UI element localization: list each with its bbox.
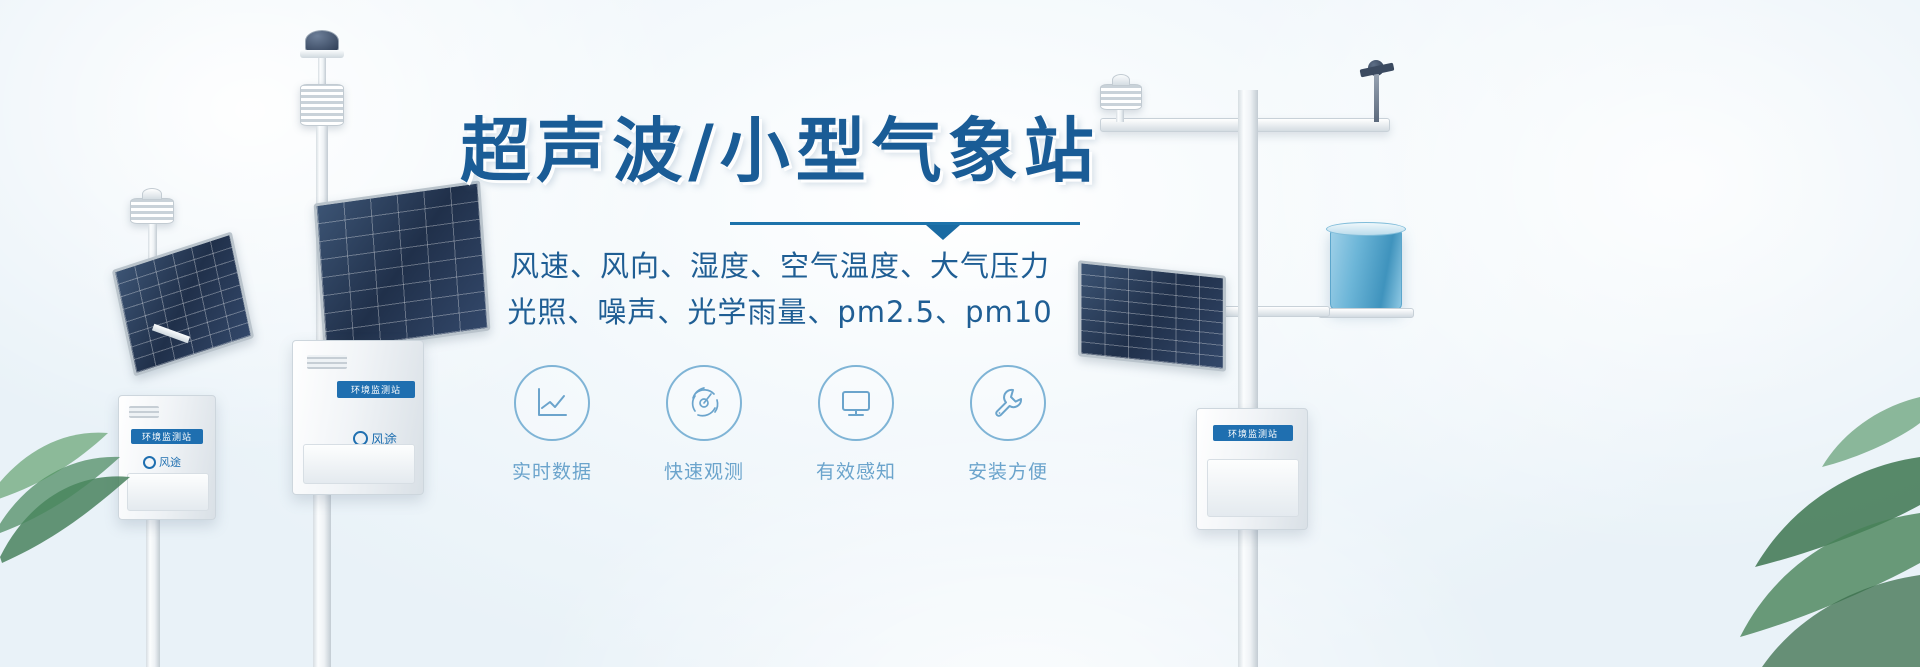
- feature-label: 实时数据: [497, 457, 607, 484]
- left-cabinet-brand: 风途: [143, 454, 181, 470]
- leaf-decoration-left: [0, 377, 140, 577]
- feature-label: 有效感知: [801, 457, 911, 484]
- left-sensor-dome: [142, 188, 162, 200]
- title-divider: [730, 219, 1080, 237]
- right-arm-radiation-shield: [1100, 84, 1142, 110]
- ultrasonic-sensor-base: [300, 50, 344, 58]
- feature-icon-ring: [666, 365, 742, 441]
- wind-vane-shaft: [1374, 74, 1379, 122]
- middle-cabinet-label: 环境监测站: [337, 381, 415, 398]
- subtitle-line-2: 光照、噪声、光学雨量、pm2.5、pm10: [430, 289, 1130, 335]
- feature-list: 实时数据 快速观测: [430, 365, 1130, 484]
- feature-icon-ring: [818, 365, 894, 441]
- left-solar-cells: [115, 235, 250, 372]
- middle-cabinet-vents: [307, 355, 347, 369]
- middle-cabinet-door: [303, 444, 415, 484]
- right-cabinet-label: 环境监测站: [1213, 425, 1293, 441]
- feature-fast-observation[interactable]: 快速观测: [649, 365, 759, 484]
- page-title: 超声波/小型气象站: [430, 110, 1130, 193]
- divider-rule: [730, 222, 1080, 225]
- middle-sensor-stem: [318, 58, 326, 84]
- right-arm-sensor-dome: [1112, 74, 1130, 86]
- right-main-mast: [1238, 90, 1258, 667]
- brand-mark-icon: [143, 456, 156, 469]
- rain-gauge-body: [1330, 228, 1402, 310]
- feature-easy-installation[interactable]: 安装方便: [953, 365, 1063, 484]
- left-solar-panel: [112, 231, 254, 376]
- feature-effective-sensing[interactable]: 有效感知: [801, 365, 911, 484]
- rain-gauge-shelf: [1318, 308, 1414, 318]
- feature-label: 安装方便: [953, 457, 1063, 484]
- subtitle-line-1: 风速、风向、湿度、空气温度、大气压力: [430, 243, 1130, 289]
- left-cabinet-label: 环境监测站: [131, 429, 203, 444]
- banner-content: 超声波/小型气象站 风速、风向、湿度、空气温度、大气压力 光照、噪声、光学雨量、…: [430, 110, 1130, 484]
- right-mid-arm: [1218, 306, 1330, 317]
- leaf-decoration-right: [1590, 337, 1920, 667]
- feature-label: 快速观测: [649, 457, 759, 484]
- right-cabinet: 环境监测站: [1196, 408, 1308, 530]
- left-radiation-shield: [130, 198, 174, 224]
- monitor-display-icon: [836, 383, 876, 423]
- feature-realtime-data[interactable]: 实时数据: [497, 365, 607, 484]
- rain-gauge-funnel: [1326, 222, 1406, 236]
- chevron-down-icon: [926, 225, 960, 240]
- middle-radiation-shield: [300, 84, 344, 126]
- ultrasonic-wind-sensor: [305, 30, 339, 52]
- middle-cabinet: 环境监测站 风途: [292, 340, 424, 495]
- product-banner: 环境监测站 风途 环境监测站 风途: [0, 0, 1920, 667]
- right-cabinet-door: [1207, 459, 1299, 517]
- middle-lower-mast: [313, 490, 331, 667]
- radar-observation-icon: [684, 383, 724, 423]
- subtitle-block: 风速、风向、湿度、空气温度、大气压力 光照、噪声、光学雨量、pm2.5、pm10: [430, 243, 1130, 336]
- feature-icon-ring: [970, 365, 1046, 441]
- wrench-icon: [988, 383, 1028, 423]
- line-chart-icon: [532, 383, 572, 423]
- feature-icon-ring: [514, 365, 590, 441]
